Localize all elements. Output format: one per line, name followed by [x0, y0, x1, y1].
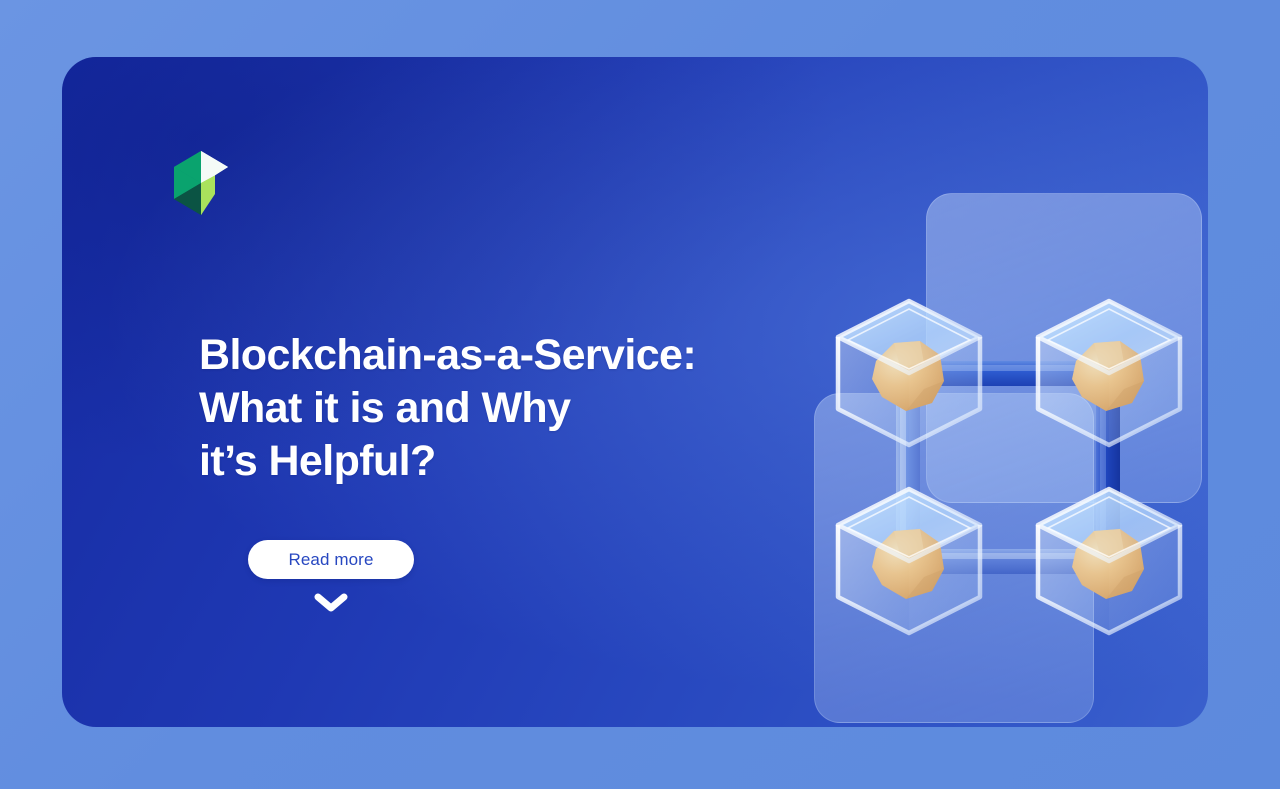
headline-line-1: Blockchain-as-a-Service:: [199, 329, 839, 382]
blockchain-nodes-3d-illustration: [798, 175, 1208, 727]
cube-layer: [816, 285, 1208, 645]
glass-cube-top-right: [1020, 285, 1198, 463]
page-title: Blockchain-as-a-Service: What it is and …: [199, 329, 839, 488]
hexagon-cube-logo[interactable]: [165, 149, 237, 217]
glass-cube-bottom-left: [820, 473, 998, 651]
glass-cube-top-left: [820, 285, 998, 463]
cta-group: Read more: [248, 540, 414, 613]
read-more-button[interactable]: Read more: [248, 540, 414, 579]
page-background: Blockchain-as-a-Service: What it is and …: [0, 0, 1280, 789]
cube-grid: [816, 285, 1208, 645]
hero-card: Blockchain-as-a-Service: What it is and …: [62, 57, 1208, 727]
headline-line-2: What it is and Why: [199, 382, 839, 435]
headline-line-3: it’s Helpful?: [199, 435, 839, 488]
chevron-down-icon[interactable]: [314, 593, 348, 613]
glass-cube-bottom-right: [1020, 473, 1198, 651]
